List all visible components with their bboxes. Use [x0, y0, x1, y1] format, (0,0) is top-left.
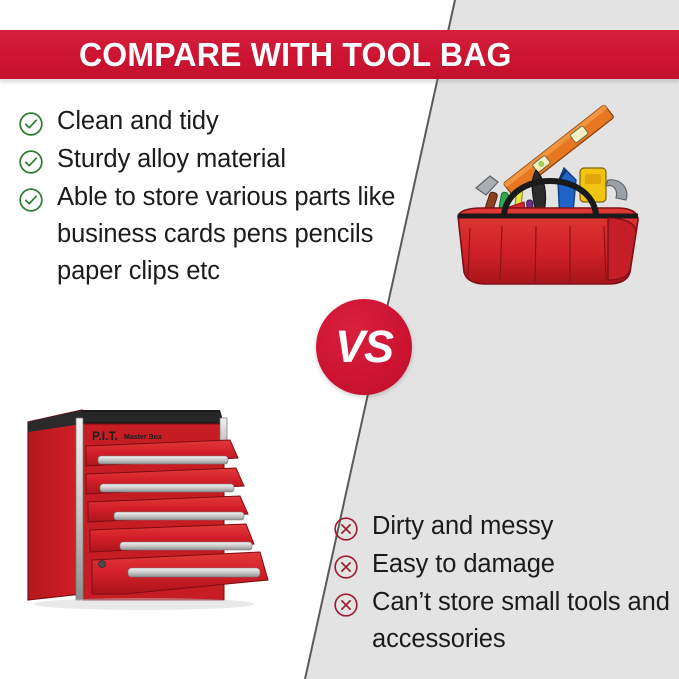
cross-circle-icon [333, 554, 359, 580]
cross-circle-icon [333, 516, 359, 542]
vs-label: VS [335, 324, 393, 369]
chest-brand-label: P.I.T. [92, 429, 118, 443]
list-item: Dirty and messy [333, 508, 679, 545]
list-item: Sturdy alloy material [18, 141, 418, 178]
cross-circle-icon [333, 592, 359, 618]
tool-chest-image: P.I.T. Master Box [24, 404, 294, 619]
cons-list: Dirty and messy Easy to damage Can’t sto… [333, 508, 679, 659]
check-circle-icon [18, 149, 44, 175]
chest-brand-sublabel: Master Box [124, 434, 162, 441]
list-item: Easy to damage [333, 546, 679, 583]
list-item: Can’t store small tools and accessories [333, 584, 679, 658]
list-item: Able to store various parts like busines… [18, 179, 418, 290]
list-item-label: Dirty and messy [372, 508, 553, 545]
chest-drawer [92, 552, 268, 594]
check-circle-icon [18, 187, 44, 213]
list-item-label: Sturdy alloy material [57, 141, 286, 178]
list-item-label: Able to store various parts like busines… [57, 179, 418, 290]
comparison-infographic: COMPARE WITH TOOL BAG Clean and tidy Stu… [0, 0, 679, 679]
check-circle-icon [18, 111, 44, 137]
tool-bag-image [440, 96, 660, 296]
list-item: Clean and tidy [18, 103, 418, 140]
list-item-label: Clean and tidy [57, 103, 219, 140]
page-title: COMPARE WITH TOOL BAG [79, 36, 512, 74]
vs-badge: VS [316, 299, 412, 395]
pros-list: Clean and tidy Sturdy alloy material Abl… [18, 103, 418, 291]
list-item-label: Easy to damage [372, 546, 555, 583]
list-item-label: Can’t store small tools and accessories [372, 584, 679, 658]
banner: COMPARE WITH TOOL BAG [0, 30, 679, 79]
